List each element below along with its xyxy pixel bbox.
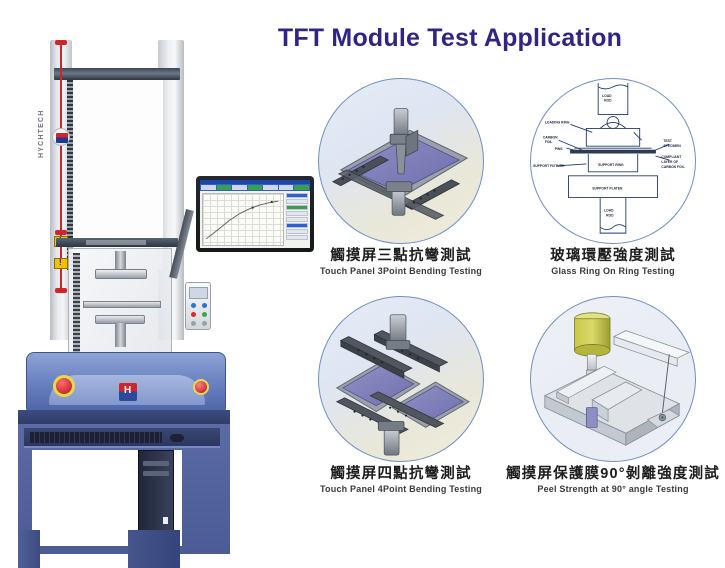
machine-moving-crosshead (56, 238, 178, 247)
pendant-button-start[interactable] (202, 312, 207, 317)
toolbar-button-5[interactable] (263, 185, 278, 190)
pc-drive-bay-1 (143, 461, 169, 466)
pendant-button-stop[interactable] (191, 312, 196, 317)
panel-glass-ring-on-ring: LOAD ROD LOADING RING CARBON FOIL PINS S… (506, 78, 720, 290)
panel-image-four-point-bending (318, 296, 484, 462)
pendant-display (189, 287, 208, 299)
machine-logo-badge (52, 128, 70, 146)
diagram-label-test-specimen: TEST (663, 139, 672, 143)
cad-3point-bending-icon (319, 79, 483, 243)
application-panel-grid: 觸摸屏三點抗彎測試 Touch Panel 3Point Bending Tes… (300, 78, 720, 508)
diagram-label-load-rod-bottom: LOAD (604, 208, 614, 212)
panel-image-three-point-bending (318, 78, 484, 244)
caption-cn: 觸摸屏四點抗彎測試 (320, 466, 482, 483)
diagram-label-support-platen: SUPPORT PLATEN (592, 187, 623, 191)
chamber-rail (73, 253, 80, 355)
pendant-button-up[interactable] (191, 303, 196, 308)
machine-control-pendant[interactable] (185, 282, 211, 330)
desk-leg-right (128, 530, 180, 568)
toolbar-button-2[interactable] (217, 185, 232, 190)
caption-en: Touch Panel 4Point Bending Testing (320, 484, 482, 494)
cad-4point-bending-icon (319, 297, 483, 461)
cad-peel-strength-icon (531, 297, 695, 461)
pendant-button-down[interactable] (202, 303, 207, 308)
machine-top-crosshead (54, 68, 180, 80)
toolbar-button-4[interactable] (248, 185, 263, 190)
svg-text:ROD: ROD (606, 213, 614, 217)
diagram-label-compliant-layer: COMPLIANT (661, 155, 681, 159)
panel-image-glass-ring-on-ring: LOAD ROD LOADING RING CARBON FOIL PINS S… (530, 78, 696, 244)
svg-text:FOIL: FOIL (545, 140, 553, 144)
panel-image-peel-strength (530, 296, 696, 462)
machine-red-stripe (60, 42, 62, 292)
pc-power-led (163, 517, 168, 524)
panel-four-point-bending: 觸摸屏四點抗彎測試 Touch Panel 4Point Bending Tes… (300, 296, 502, 508)
pc-drive-bay-2 (143, 471, 169, 476)
diagram-label-support-ring: SUPPORT RING (598, 163, 624, 167)
base-brand-logo (119, 383, 137, 401)
caption-four-point-bending: 觸摸屏四點抗彎測試 Touch Panel 4Point Bending Tes… (320, 466, 482, 494)
universal-testing-machine: HYCHTECH (10, 30, 250, 550)
tft-module-test-application-page: TFT Module Test Application HYCHTECH (0, 0, 725, 563)
caption-en: Touch Panel 3Point Bending Testing (320, 266, 482, 276)
diagram-label-support-fixture: SUPPORT FIXTURE (533, 164, 565, 168)
desk-top-surface (18, 410, 230, 424)
caption-glass-ring-on-ring: 玻璃環壓強度測試 Glass Ring On Ring Testing (550, 248, 676, 276)
test-software-monitor (196, 176, 314, 252)
upper-test-fixture (95, 269, 147, 279)
pendant-button-aux1[interactable] (191, 321, 196, 326)
toolbar-button-3[interactable] (232, 185, 247, 190)
pendant-button-aux2[interactable] (202, 321, 207, 326)
panel-peel-strength: 觸摸屏保護膜90°剝離強度測試 Peel Strength at 90° ang… (506, 296, 720, 508)
monitor-screen (200, 180, 310, 248)
caption-en: Glass Ring On Ring Testing (550, 266, 676, 276)
caption-en: Peel Strength at 90° angle Testing (506, 484, 720, 494)
software-workspace (200, 191, 310, 248)
lower-fixture-stem (115, 323, 126, 347)
specimen-platen (83, 301, 161, 308)
keyboard[interactable] (30, 432, 162, 443)
power-button[interactable] (193, 379, 209, 395)
svg-text:ROD: ROD (604, 99, 612, 103)
diagram-label-load-rod-top: LOAD (602, 94, 612, 98)
diagram-label-pins: PINS (555, 147, 564, 151)
caption-cn: 玻璃環壓強度測試 (550, 248, 676, 265)
machine-brand-text: HYCHTECH (38, 110, 45, 159)
software-toolbar[interactable] (200, 184, 310, 191)
toolbar-button-1[interactable] (201, 185, 216, 190)
svg-text:CARBON FOIL: CARBON FOIL (661, 165, 684, 169)
panel-three-point-bending: 觸摸屏三點抗彎測試 Touch Panel 3Point Bending Tes… (300, 78, 502, 290)
warning-label-icon-2 (54, 258, 68, 269)
diagram-label-carbon-foil: CARBON (543, 135, 558, 139)
machine-test-chamber (68, 248, 172, 358)
svg-text:SPECIMEN: SPECIMEN (663, 144, 681, 148)
caption-three-point-bending: 觸摸屏三點抗彎測試 Touch Panel 3Point Bending Tes… (320, 248, 482, 276)
machine-stripe-cap-top (55, 40, 67, 45)
stress-strain-chart (202, 193, 284, 246)
mouse[interactable] (170, 434, 184, 442)
page-title: TFT Module Test Application (240, 24, 660, 53)
stress-strain-curve-icon (203, 194, 283, 242)
ring-on-ring-diagram-icon: LOAD ROD LOADING RING CARBON FOIL PINS S… (531, 79, 695, 243)
machine-stripe-cap-bottom (55, 288, 67, 293)
toolbar-button-6[interactable] (279, 185, 294, 190)
caption-cn: 觸摸屏三點抗彎測試 (320, 248, 482, 265)
caption-cn: 觸摸屏保護膜90°剝離強度測試 (506, 466, 720, 483)
machine-base-unit (26, 352, 226, 412)
diagram-label-loading-ring: LOADING RING (545, 120, 570, 124)
machine-stripe-cap-mid (55, 230, 67, 235)
desk-leg-left (18, 530, 40, 568)
upper-fixture-stem (115, 251, 126, 271)
emergency-stop-button[interactable] (53, 375, 75, 397)
caption-peel-strength: 觸摸屏保護膜90°剝離強度測試 Peel Strength at 90° ang… (506, 466, 720, 494)
svg-text:LAYER OF: LAYER OF (661, 160, 678, 164)
